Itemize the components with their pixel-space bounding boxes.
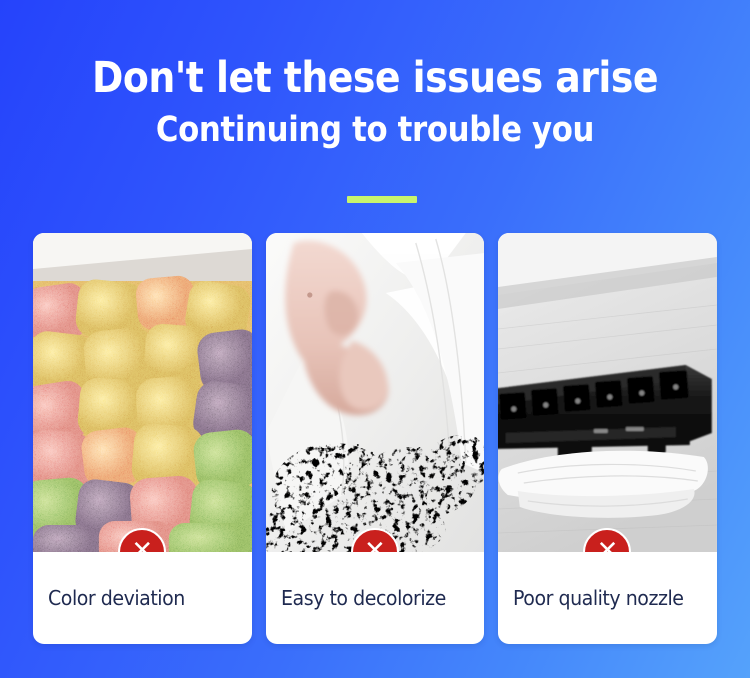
cross-mark-icon: ✕ — [120, 530, 164, 552]
card-caption-color-deviation: Color deviation — [33, 552, 252, 644]
card-caption-easy-to-decolorize: Easy to decolorize — [266, 552, 485, 644]
cross-mark-icon: ✕ — [353, 530, 397, 552]
heading-block: Don't let these issues arise Continuing … — [0, 54, 750, 150]
hand-wiping-black-toner-smudge-on-white-cloth-photo — [266, 233, 485, 552]
page-subtitle: Continuing to trouble you — [45, 110, 705, 150]
black-printer-cartridge-nozzle-on-cloth-photo — [498, 233, 717, 552]
card-photo-poor-quality-nozzle: ✕ — [498, 233, 717, 552]
cross-mark-badge: ✕ — [351, 528, 399, 552]
cross-mark-badge: ✕ — [583, 528, 631, 552]
issue-card-easy-to-decolorize[interactable]: ✕ Easy to decolorize — [266, 233, 485, 644]
promo-poster: Don't let these issues arise Continuing … — [0, 0, 750, 678]
cross-mark-badge: ✕ — [118, 528, 166, 552]
issue-card-poor-quality-nozzle[interactable]: ✕ Poor quality nozzle — [498, 233, 717, 644]
card-photo-easy-to-decolorize: ✕ — [266, 233, 485, 552]
card-caption-text: Poor quality nozzle — [513, 586, 683, 610]
card-photo-color-deviation: ✕ — [33, 233, 252, 552]
colorful-sugar-gumdrop-candies-photo — [33, 233, 252, 552]
page-title: Don't let these issues arise — [45, 54, 705, 102]
card-caption-poor-quality-nozzle: Poor quality nozzle — [498, 552, 717, 644]
cross-mark-icon: ✕ — [585, 530, 629, 552]
accent-divider-bar — [347, 196, 417, 203]
issue-card-color-deviation[interactable]: ✕ Color deviation — [33, 233, 252, 644]
card-caption-text: Easy to decolorize — [281, 586, 446, 610]
issue-card-list: ✕ Color deviation — [33, 233, 717, 644]
card-caption-text: Color deviation — [48, 586, 185, 610]
